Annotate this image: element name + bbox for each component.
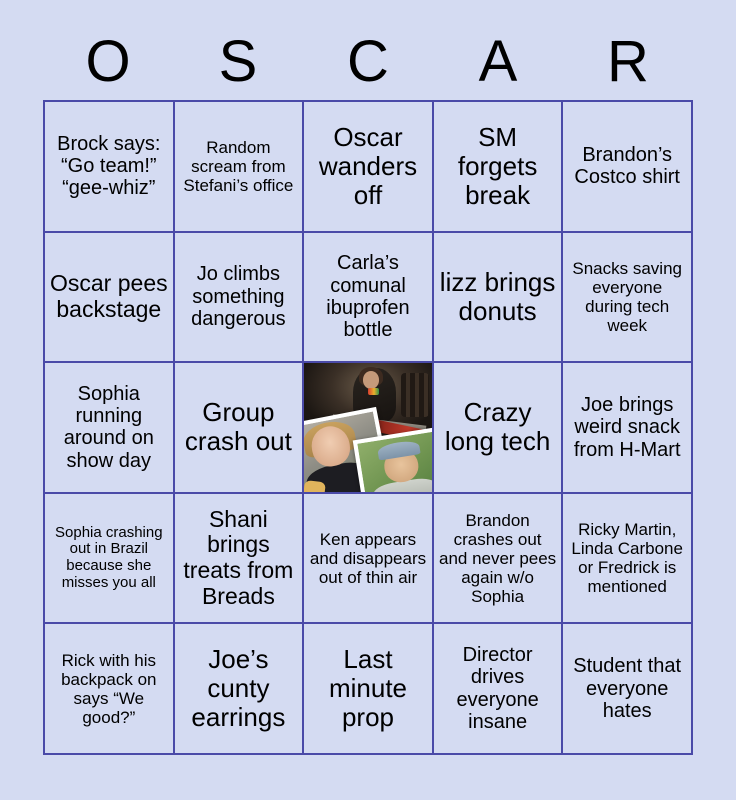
bingo-cell[interactable]: Last minute prop [304,624,434,755]
bingo-cell-label: Carla’s comunal ibuprofen bottle [309,252,427,342]
bingo-cell-label: Group crash out [180,398,298,456]
bingo-cell[interactable]: Ken appears and disappears out of thin a… [304,494,434,625]
bingo-cell-label: Ken appears and disappears out of thin a… [309,530,427,587]
bingo-cell-label: Joe’s cunty earrings [180,645,298,732]
bingo-cell-label: Brandon’s Costco shirt [568,144,686,189]
bingo-cell-label: SM forgets break [439,123,557,210]
bingo-grid: Brock says: “Go team!” “gee-whiz”Random … [43,100,693,755]
tshirt-logo-shape [368,388,379,396]
bingo-cell[interactable]: Brock says: “Go team!” “gee-whiz” [45,102,175,233]
bingo-cell[interactable]: Snacks saving everyone during tech week [563,233,693,364]
bingo-cell[interactable]: Sophia running around on show day [45,363,175,494]
bingo-cell[interactable]: Joe’s cunty earrings [175,624,305,755]
bingo-cell-label: Joe brings weird snack from H-Mart [568,394,686,461]
bingo-cell-label: Random scream from Stefani’s office [180,138,298,195]
bingo-cell-label: Brock says: “Go team!” “gee-whiz” [50,133,168,200]
bingo-cell-label: Crazy long tech [439,398,557,456]
bingo-cell-label: Ricky Martin, Linda Carbone or Fredrick … [568,520,686,596]
bingo-cell-label: Jo climbs something dangerous [180,263,298,330]
bingo-cell-label: Oscar pees backstage [50,271,168,323]
bingo-cell[interactable]: Oscar wanders off [304,102,434,233]
bingo-cell[interactable]: Carla’s comunal ibuprofen bottle [304,233,434,364]
bingo-cell[interactable]: SM forgets break [434,102,564,233]
bingo-cell[interactable]: Random scream from Stefani’s office [175,102,305,233]
header-letter-s: S [173,33,303,91]
bingo-cell-label: Shani brings treats from Breads [180,507,298,610]
bingo-cell[interactable]: Brandon’s Costco shirt [563,102,693,233]
bingo-cell-label: lizz brings donuts [439,268,557,326]
bingo-cell-label: Last minute prop [309,645,427,732]
header-letter-a: A [433,33,563,91]
bingo-cell-label: Rick with his backpack on says “We good?… [50,651,168,727]
bingo-cell-label: Student that everyone hates [568,655,686,722]
bingo-cell[interactable]: lizz brings donuts [434,233,564,364]
header-letter-c: C [303,33,433,91]
bingo-cell-label: Brandon crashes out and never pees again… [439,511,557,606]
bingo-cell-label: Oscar wanders off [309,123,427,210]
bingo-cell[interactable]: Oscar pees backstage [45,233,175,364]
bingo-cell[interactable]: Brandon crashes out and never pees again… [434,494,564,625]
bingo-free-space-image[interactable] [304,363,434,494]
header-letter-o: O [43,33,173,91]
bingo-cell-label: Snacks saving everyone during tech week [568,259,686,335]
bingo-cell[interactable]: Joe brings weird snack from H-Mart [563,363,693,494]
collage-photo [304,363,432,492]
bingo-cell-label: Director drives everyone insane [439,644,557,734]
bingo-header: O S C A R [43,28,693,96]
bingo-cell[interactable]: Ricky Martin, Linda Carbone or Fredrick … [563,494,693,625]
bingo-cell[interactable]: Director drives everyone insane [434,624,564,755]
bingo-cell-label: Sophia crashing out in Brazil because sh… [50,525,168,592]
bingo-cell[interactable]: Jo climbs something dangerous [175,233,305,364]
bingo-cell[interactable]: Rick with his backpack on says “We good?… [45,624,175,755]
bingo-cell[interactable]: Shani brings treats from Breads [175,494,305,625]
bingo-card: O S C A R Brock says: “Go team!” “gee-wh… [0,0,736,800]
chair-shape [401,373,429,417]
bingo-cell[interactable]: Sophia crashing out in Brazil because sh… [45,494,175,625]
bingo-cell[interactable]: Group crash out [175,363,305,494]
bingo-cell[interactable]: Crazy long tech [434,363,564,494]
bingo-cell[interactable]: Student that everyone hates [563,624,693,755]
header-letter-r: R [563,33,693,91]
bingo-cell-label: Sophia running around on show day [50,383,168,473]
